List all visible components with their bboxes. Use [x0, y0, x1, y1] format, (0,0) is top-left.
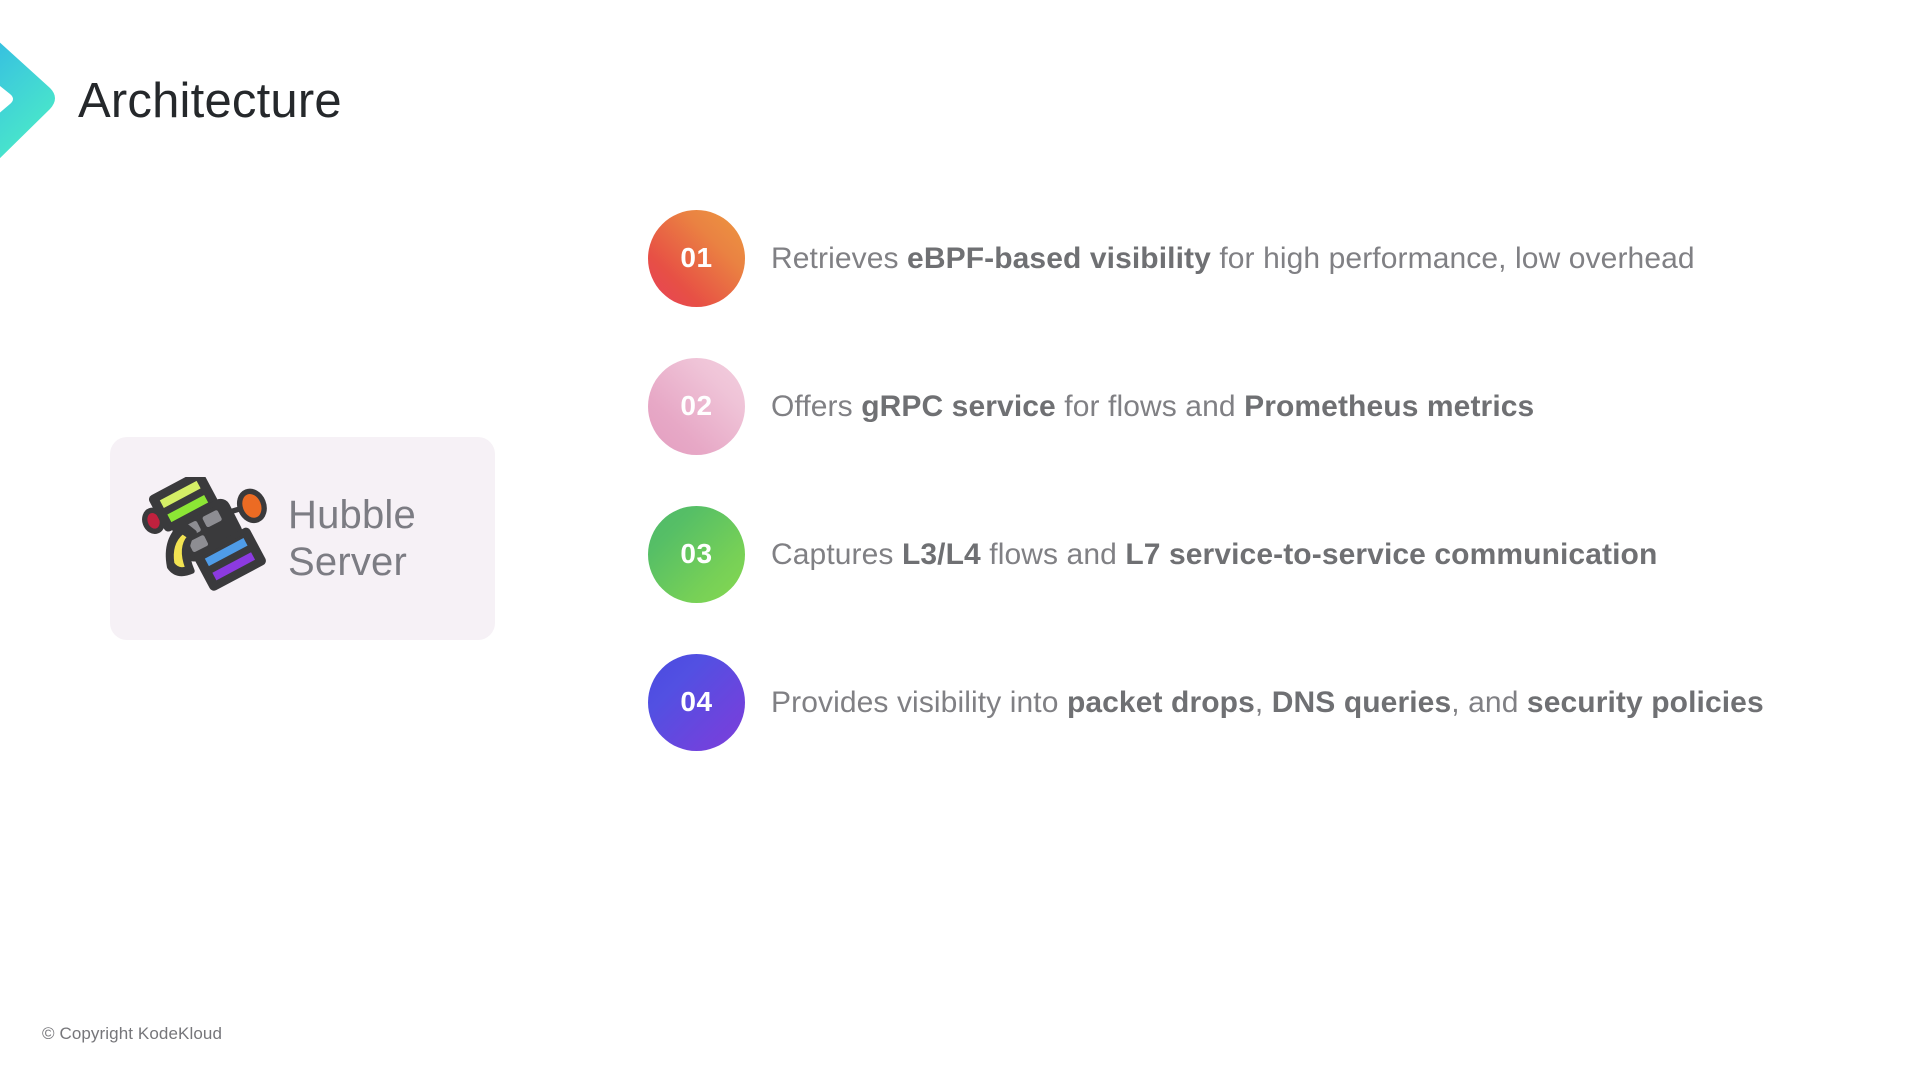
point-badge-02: 02 — [648, 358, 745, 455]
point-segment: for flows and — [1056, 390, 1244, 423]
point-text-03: Captures L3/L4 flows and L7 service-to-s… — [771, 535, 1657, 574]
hubble-server-label: Hubble Server — [288, 492, 416, 586]
point-segment: , and — [1451, 686, 1527, 719]
satellite-icon — [132, 474, 282, 604]
point-segment-bold: security policies — [1527, 686, 1764, 719]
point-segment: Captures — [771, 538, 902, 571]
point-segment-bold: packet drops — [1067, 686, 1255, 719]
point-segment-bold: DNS queries — [1272, 686, 1452, 719]
page-title: Architecture — [78, 72, 342, 131]
point-segment-bold: Prometheus metrics — [1244, 390, 1534, 423]
point-segment-bold: L3/L4 — [902, 538, 981, 571]
point-text-01: Retrieves eBPF-based visibility for high… — [771, 239, 1695, 278]
hubble-server-card: Hubble Server — [110, 437, 495, 640]
architecture-points-list: 01 Retrieves eBPF-based visibility for h… — [648, 208, 1878, 752]
list-item: 04 Provides visibility into packet drops… — [648, 652, 1878, 752]
list-item: 03 Captures L3/L4 flows and L7 service-t… — [648, 504, 1878, 604]
point-segment-bold: L7 service-to-service communication — [1125, 538, 1657, 571]
chevron-right-icon — [0, 22, 62, 174]
point-text-04: Provides visibility into packet drops, D… — [771, 683, 1764, 722]
point-segment-bold: gRPC service — [861, 390, 1056, 423]
point-segment: Provides visibility into — [771, 686, 1067, 719]
point-segment: , — [1255, 686, 1272, 719]
point-badge-03: 03 — [648, 506, 745, 603]
point-badge-04: 04 — [648, 654, 745, 751]
point-text-02: Offers gRPC service for flows and Promet… — [771, 387, 1534, 426]
point-segment: Offers — [771, 390, 861, 423]
list-item: 01 Retrieves eBPF-based visibility for h… — [648, 208, 1878, 308]
list-item: 02 Offers gRPC service for flows and Pro… — [648, 356, 1878, 456]
copyright-notice: © Copyright KodeKloud — [42, 1024, 222, 1044]
point-segment: for high performance, low overhead — [1211, 242, 1695, 275]
point-badge-01: 01 — [648, 210, 745, 307]
point-segment-bold: eBPF-based visibility — [907, 242, 1211, 275]
point-segment: flows and — [981, 538, 1126, 571]
point-segment: Retrieves — [771, 242, 907, 275]
